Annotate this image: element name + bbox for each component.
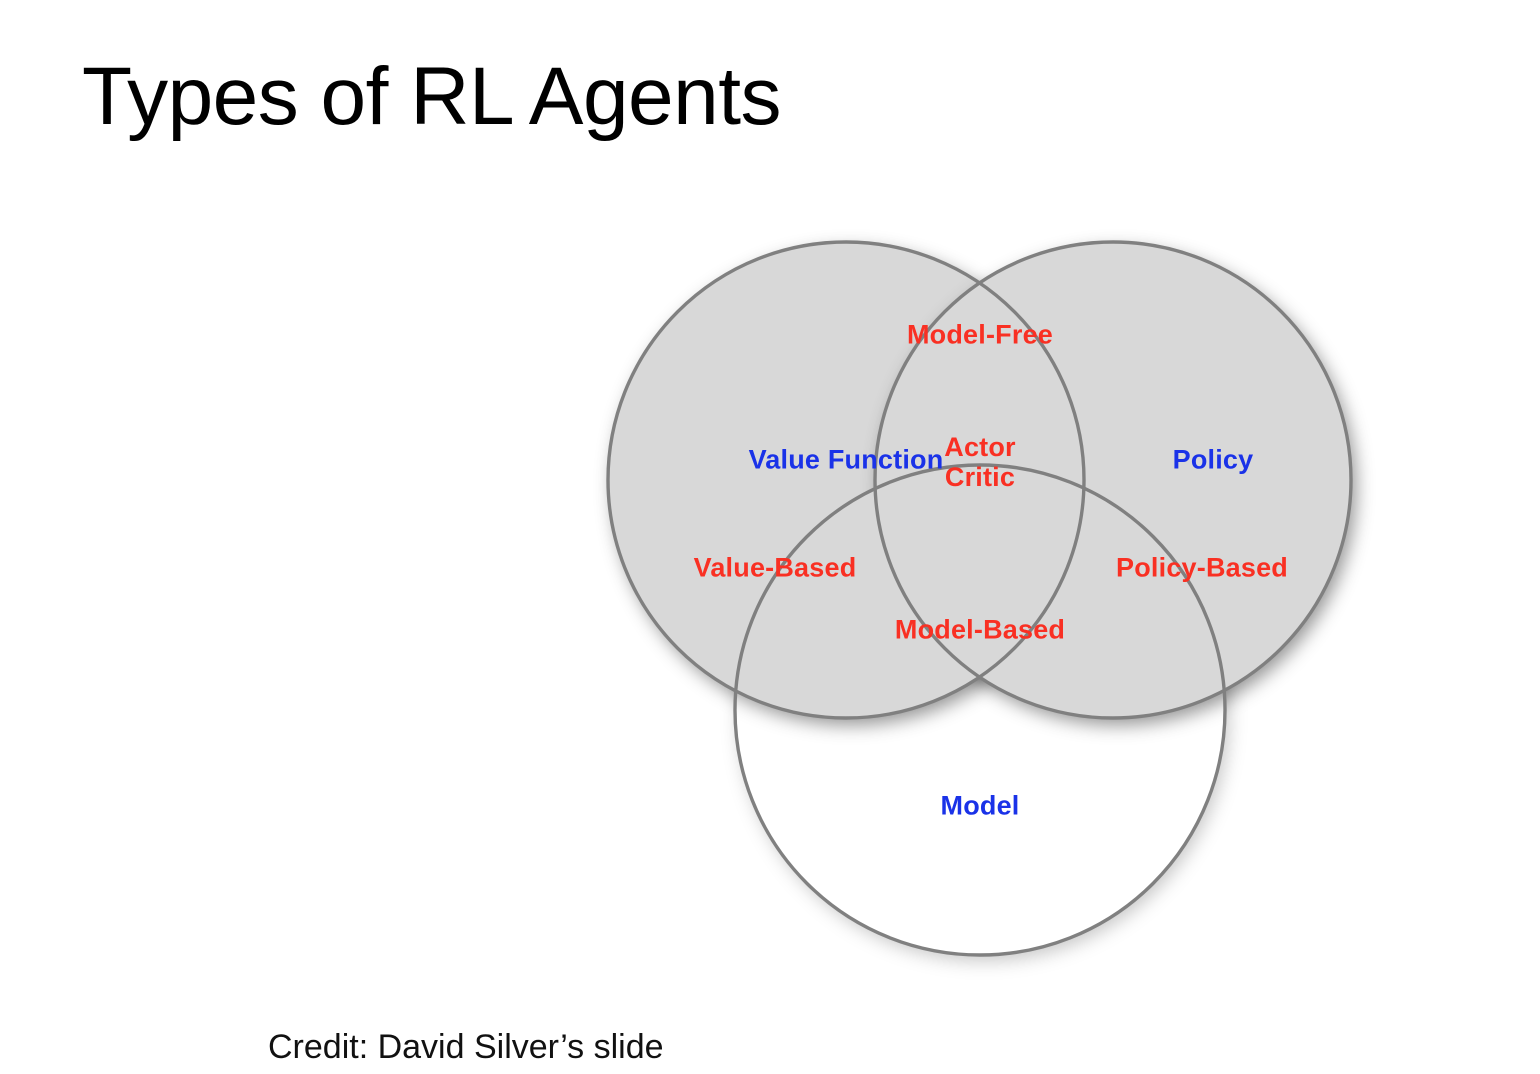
page-title: Types of RL Agents (82, 56, 781, 138)
venn-diagram-svg (560, 210, 1420, 1000)
venn-diagram: Value Function Policy Model Model-Free A… (560, 210, 1420, 1000)
credit-text: Credit: David Silver’s slide (268, 1028, 664, 1067)
